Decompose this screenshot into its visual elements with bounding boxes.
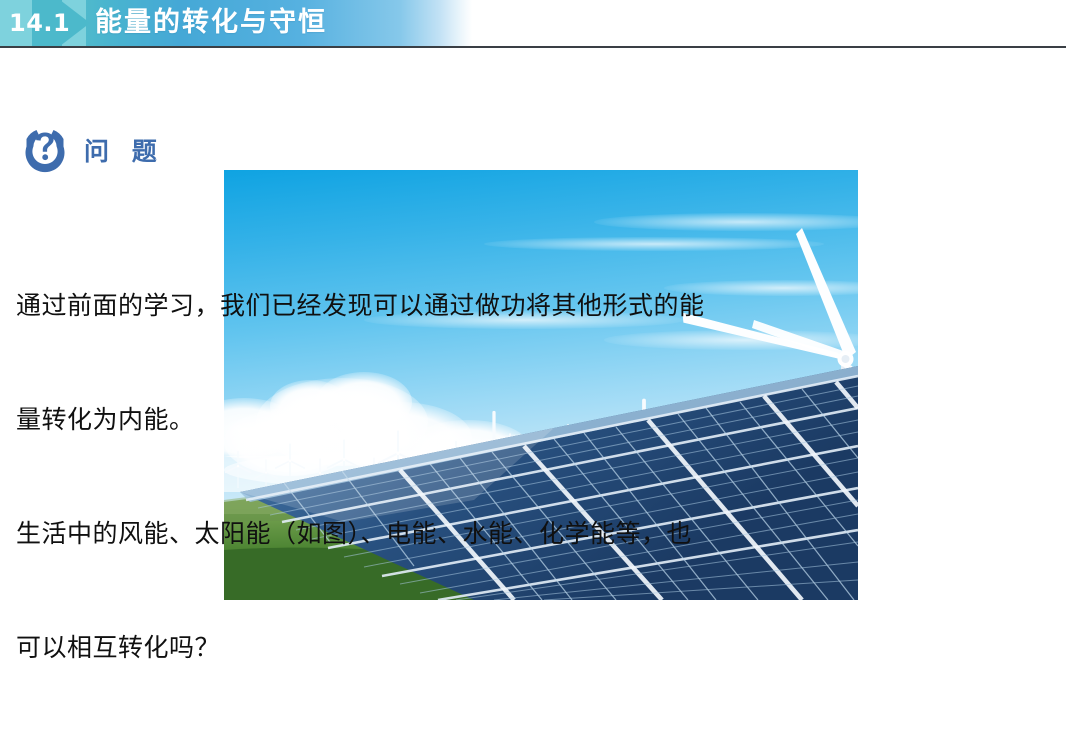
question-heading: 问 题 bbox=[20, 124, 164, 180]
header-banner: 14.1 能量的转化与守恒 bbox=[0, 0, 1066, 46]
body-line-3: 生活中的风能、太阳能（如图）、电能、水能、化学能等，也 bbox=[16, 516, 1056, 554]
body-text: 通过前面的学习，我们已经发现可以通过做功将其他形式的能 量转化为内能。 生活中的… bbox=[16, 212, 1056, 744]
chapter-number: 14.1 bbox=[9, 9, 70, 37]
header-divider bbox=[0, 46, 1066, 48]
page-title: 能量的转化与守恒 bbox=[95, 6, 327, 40]
question-mark-circle-icon bbox=[20, 127, 70, 177]
body-line-4: 可以相互转化吗？ bbox=[16, 630, 1056, 668]
body-line-2: 量转化为内能。 bbox=[16, 402, 1056, 440]
body-line-1: 通过前面的学习，我们已经发现可以通过做功将其他形式的能 bbox=[16, 288, 1056, 326]
slide-canvas: 14.1 能量的转化与守恒 问 题 bbox=[0, 0, 1066, 600]
question-label: 问 题 bbox=[84, 137, 164, 167]
